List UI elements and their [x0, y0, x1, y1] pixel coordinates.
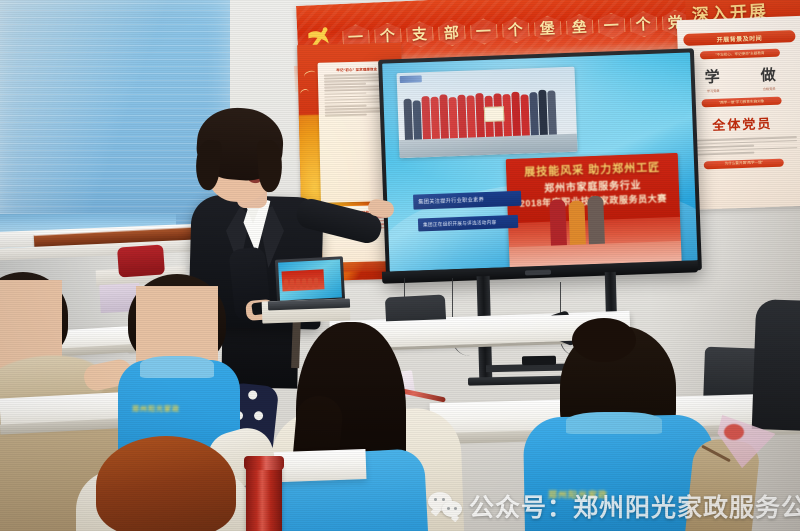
poster-body-text [687, 136, 799, 156]
poster-text-line [324, 92, 366, 95]
poster-text-line [325, 105, 367, 108]
poster-tag-top: “不忘初心、牢记使命”主题教育 [700, 49, 781, 60]
banner-char-text: 一 [475, 20, 491, 42]
banner-char: 个 [500, 13, 531, 44]
window-blind [0, 0, 230, 232]
tv-connector-box [522, 356, 556, 366]
attendee-vest-collar [140, 356, 214, 378]
flower-bud [724, 424, 744, 440]
attendee-right-vest-collar [566, 412, 662, 434]
watermark: 公众号：郑州阳光家政服务公司 [428, 488, 800, 524]
poster-big-row2: 全体党员 [686, 112, 799, 135]
poster-big-char-right: 做 [760, 64, 777, 86]
wechat-icon [428, 492, 462, 520]
poster-big-characters: 学 做 [684, 63, 797, 88]
poster-sub-left: 学习党章 [707, 88, 720, 93]
television[interactable]: 展技能风采 助力郑州工匠 郑州市家庭服务行业 2018年度职业技能家政服务员大赛… [378, 48, 702, 281]
poster-sub-right: 合格党员 [763, 86, 776, 91]
banner-char: 垒 [564, 11, 595, 42]
poster-big-char-left: 学 [704, 66, 721, 88]
banner-char-text: 个 [507, 18, 523, 40]
blind-sheen [0, 0, 230, 232]
slide-photo-logo [400, 75, 422, 83]
dove-icon [303, 69, 317, 81]
banner-char: 支 [404, 18, 435, 49]
attendee-far-right [752, 299, 800, 431]
poster-text-line [325, 114, 367, 117]
wechat-bubble-small [442, 501, 462, 517]
attendee-front-hair [96, 436, 236, 531]
thermos-bottle[interactable] [246, 462, 282, 531]
poster-tag-mid: “两学一做”学习教育实施对象 [701, 97, 782, 108]
laptop-screen[interactable] [275, 256, 345, 303]
banner-char: 部 [436, 16, 467, 47]
banner-char-text: 个 [635, 12, 651, 34]
thermos-cap[interactable] [244, 456, 284, 470]
attendee-right-hair-bun [572, 318, 636, 362]
slide-photo-award: 展技能风采 助力郑州工匠 郑州市家庭服务行业 2018年度职业技能家政服务员大赛 [506, 153, 682, 269]
tv-brand-logo [525, 270, 551, 276]
laptop-slide-people [284, 278, 318, 290]
banner-char-text: 一 [603, 14, 619, 36]
vest-logo-text: 郑州阳光家政 [132, 404, 180, 414]
watermark-text: 公众号：郑州阳光家政服务公司 [469, 488, 800, 524]
banner-char-text: 堡 [539, 17, 555, 39]
poster-section-header: 开展背景及时间 [683, 30, 795, 46]
banner-char: 堡 [532, 12, 563, 43]
banner-char: 一 [468, 15, 499, 46]
banner-char-text: 部 [443, 21, 459, 43]
slide-photo-certificate [484, 106, 505, 122]
poster-tag-bottom: 为什么要开展“两学一做” [703, 159, 784, 170]
banner-char-text: 支 [411, 23, 427, 45]
dove-icon [299, 88, 310, 99]
laptop-display [278, 259, 342, 300]
banner-char: 一 [596, 9, 627, 40]
banner-char: 个 [627, 8, 658, 39]
poster-text-line [324, 83, 366, 86]
slide-photo-group [397, 67, 578, 158]
tv-screen[interactable]: 展技能风采 助力郑州工匠 郑州市家庭服务行业 2018年度职业技能家政服务员大赛… [382, 52, 697, 271]
poster-text-line [689, 152, 754, 156]
screenshot-root: 一 个 支 部 一 个 堡 垒 一 个 党 员 一 面 旗 帜 牢记“初心” 坚… [0, 0, 800, 531]
banner-char-text: 垒 [571, 15, 587, 37]
red-bag [117, 244, 165, 277]
